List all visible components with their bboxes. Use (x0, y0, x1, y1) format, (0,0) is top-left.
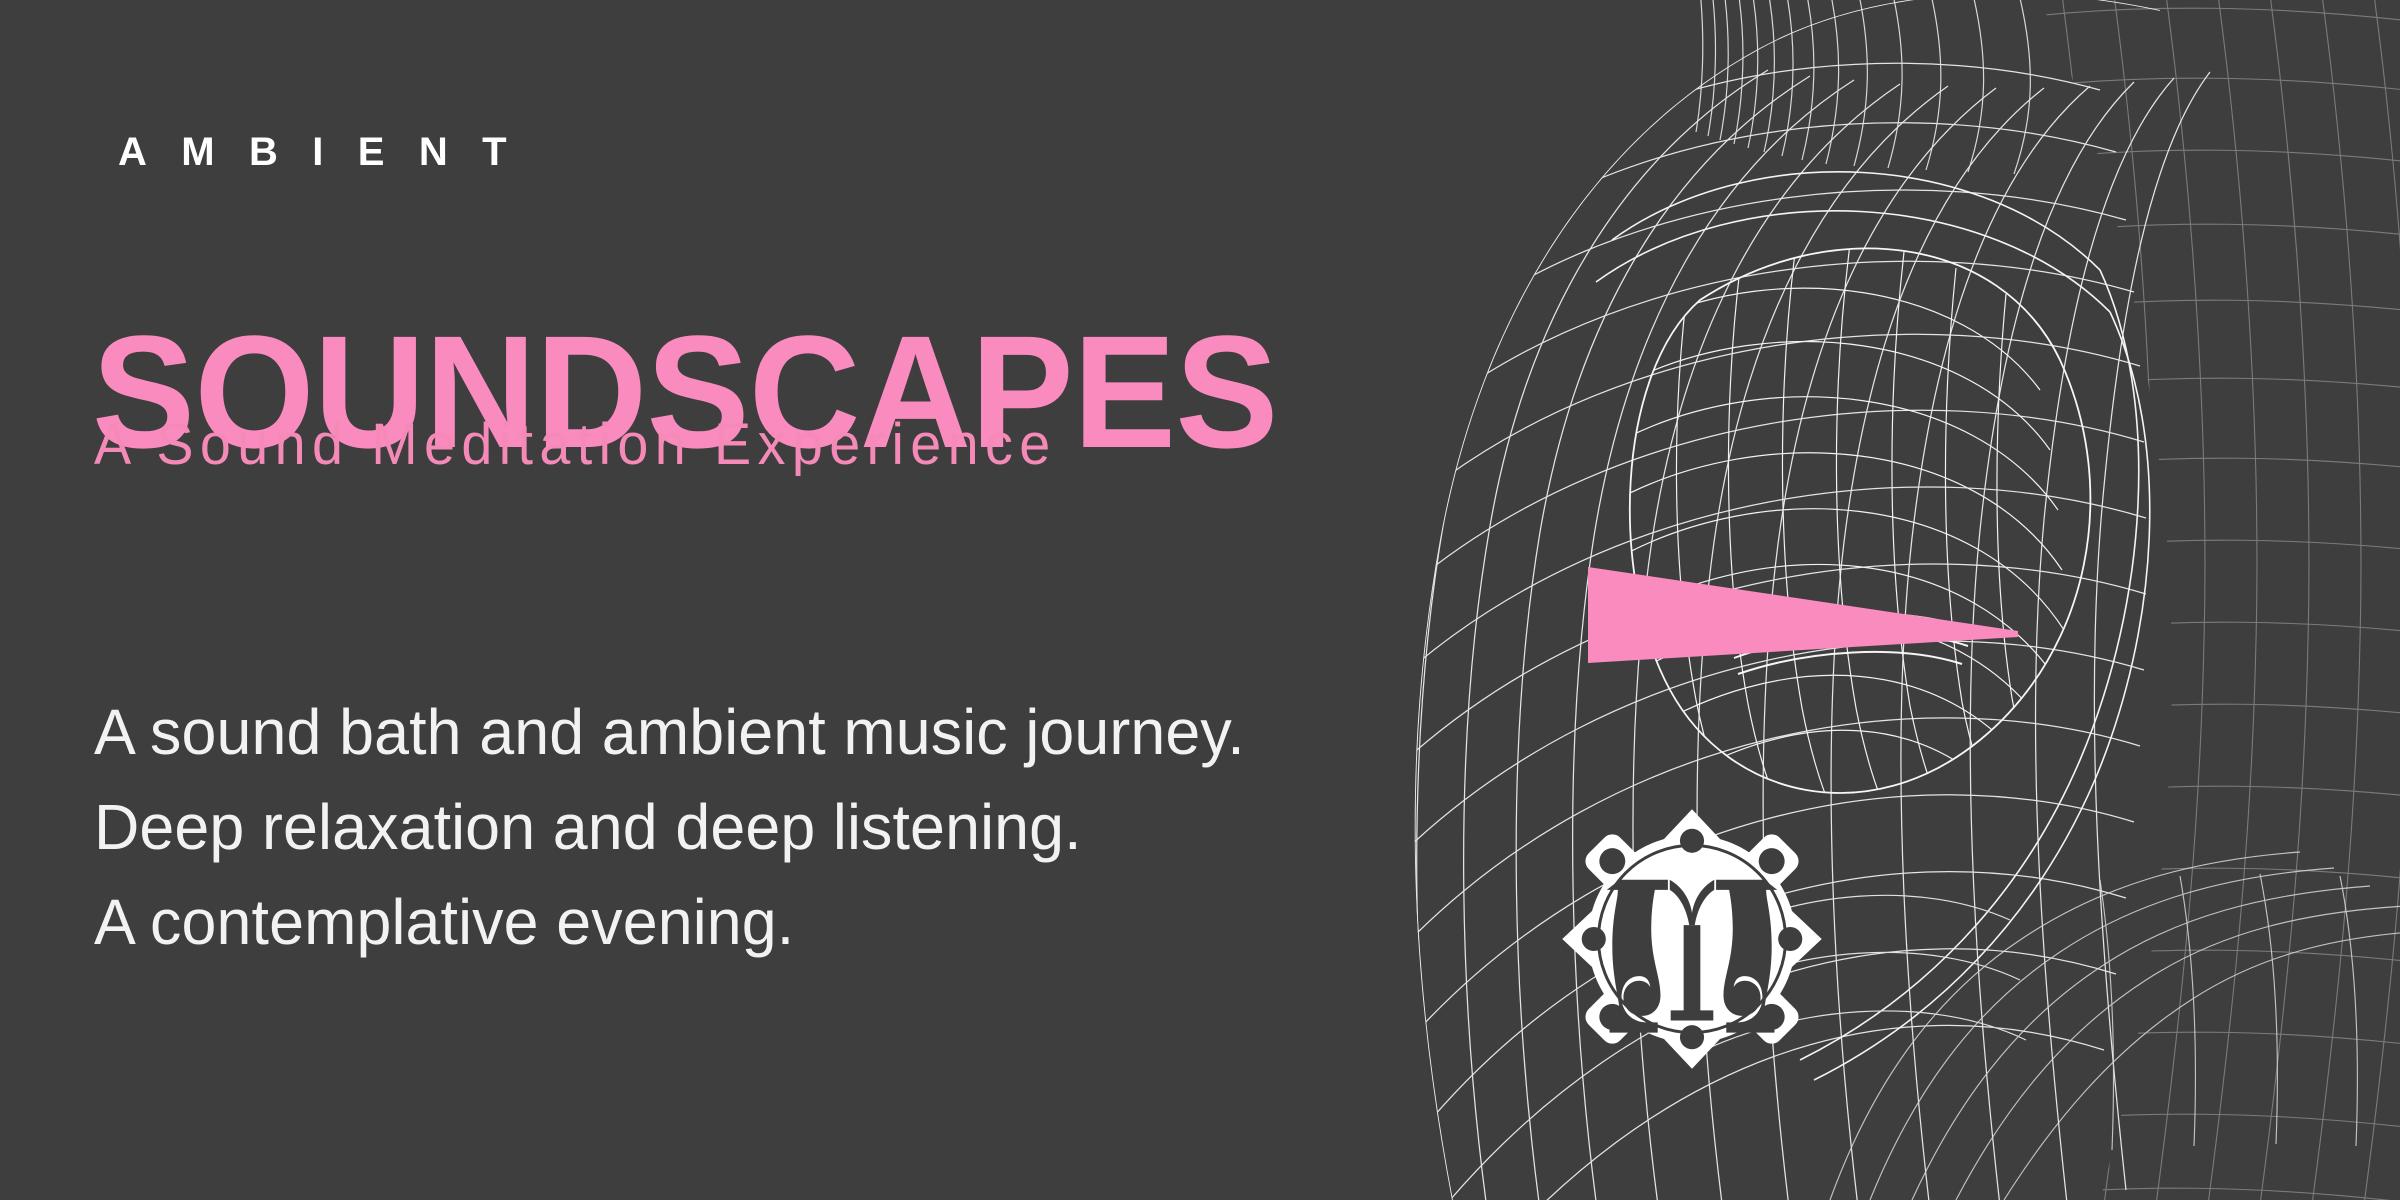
body-line-1: A sound bath and ambient music journey. (94, 685, 1245, 780)
wireframe-head-graphic (1400, 0, 2400, 1200)
subtitle: A Sound Meditation Experience (94, 416, 1057, 474)
kicker-ambient: AMBIENT (118, 132, 541, 172)
text-content-column: AMBIENT SOUNDSCAPES A Sound Meditation E… (92, 0, 1542, 1200)
poster-canvas: AMBIENT SOUNDSCAPES A Sound Meditation E… (0, 0, 2400, 1200)
mandala-monogram-emblem (1553, 800, 1831, 1078)
body-copy: A sound bath and ambient music journey. … (94, 685, 1245, 970)
sound-wave-wedge-icon (1588, 565, 2018, 665)
body-line-3: A contemplative evening. (94, 875, 1245, 970)
body-line-2: Deep relaxation and deep listening. (94, 780, 1245, 875)
